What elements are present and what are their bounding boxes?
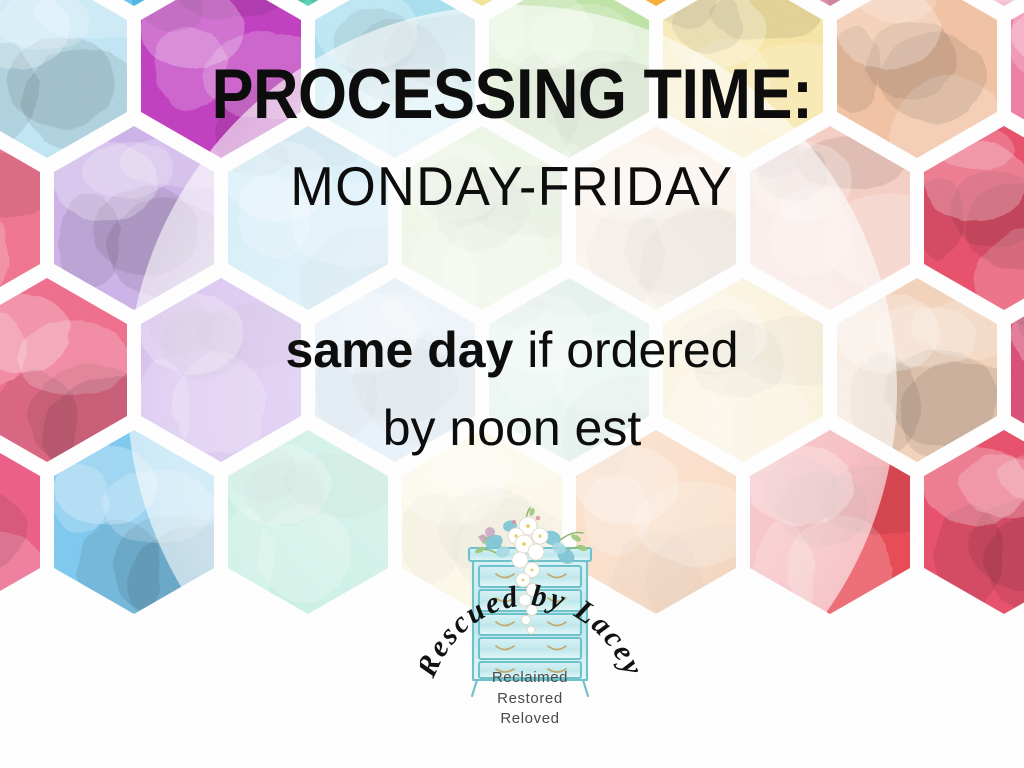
logo-tagline: Reclaimed Restored Reloved: [420, 668, 640, 730]
tagline-line-2: Restored: [420, 689, 640, 710]
tagline-line-1: Reclaimed: [420, 668, 640, 689]
brand-logo: Rescued by Lacey Reclaimed Restored Relo…: [420, 482, 640, 732]
processing-time-banner: PROCESSING TIME: MONDAY-FRIDAY same day …: [0, 0, 1024, 768]
tagline-line-3: Reloved: [420, 709, 640, 730]
